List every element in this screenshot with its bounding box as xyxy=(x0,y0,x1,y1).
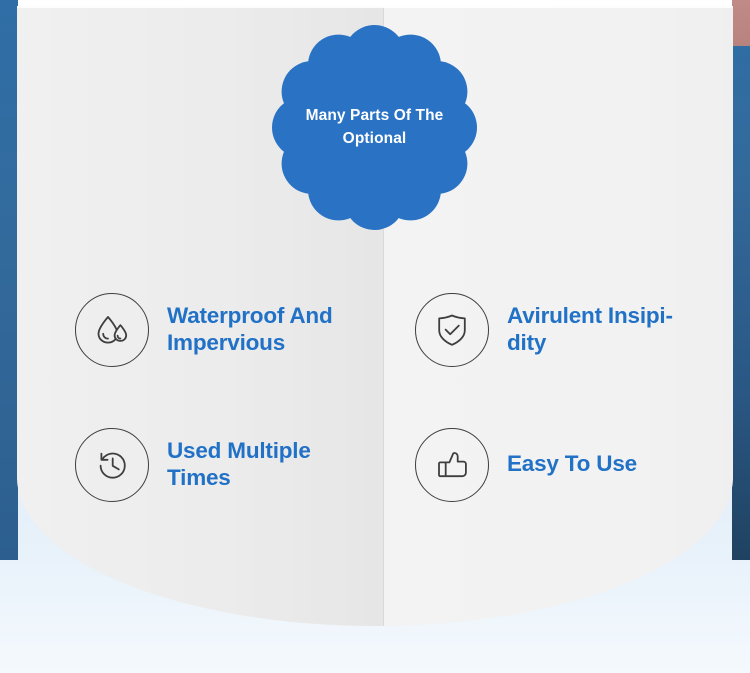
top-right-accent-block xyxy=(732,0,750,46)
shield-check-icon xyxy=(415,293,489,367)
feature-label: Waterproof And Impervious xyxy=(167,303,367,356)
water-drops-icon xyxy=(75,293,149,367)
feature-row: Used Multiple Times Easy To Use xyxy=(17,397,733,532)
feature-label: Easy To Use xyxy=(507,451,637,477)
feature-row: Waterproof And Impervious Avirulent Insi… xyxy=(17,262,733,397)
feature-item-avirulent[interactable]: Avirulent Insipi-dity xyxy=(367,262,733,397)
badge: Many Parts Of The Optional xyxy=(272,25,477,230)
left-edge-rail xyxy=(0,0,18,560)
clock-history-icon xyxy=(75,428,149,502)
feature-grid: Waterproof And Impervious Avirulent Insi… xyxy=(17,262,733,532)
feature-item-waterproof[interactable]: Waterproof And Impervious xyxy=(17,262,367,397)
feature-highlight-page: Many Parts Of The Optional Waterproof An… xyxy=(0,0,750,673)
badge-label: Many Parts Of The Optional xyxy=(272,25,477,230)
feature-label: Avirulent Insipi-dity xyxy=(507,303,707,356)
feature-item-reusable[interactable]: Used Multiple Times xyxy=(17,397,367,532)
feature-item-easy-to-use[interactable]: Easy To Use xyxy=(367,397,733,532)
panel-top-highlight xyxy=(17,6,733,8)
right-edge-rail xyxy=(732,0,750,560)
feature-label: Used Multiple Times xyxy=(167,438,367,491)
thumbs-up-icon xyxy=(415,428,489,502)
